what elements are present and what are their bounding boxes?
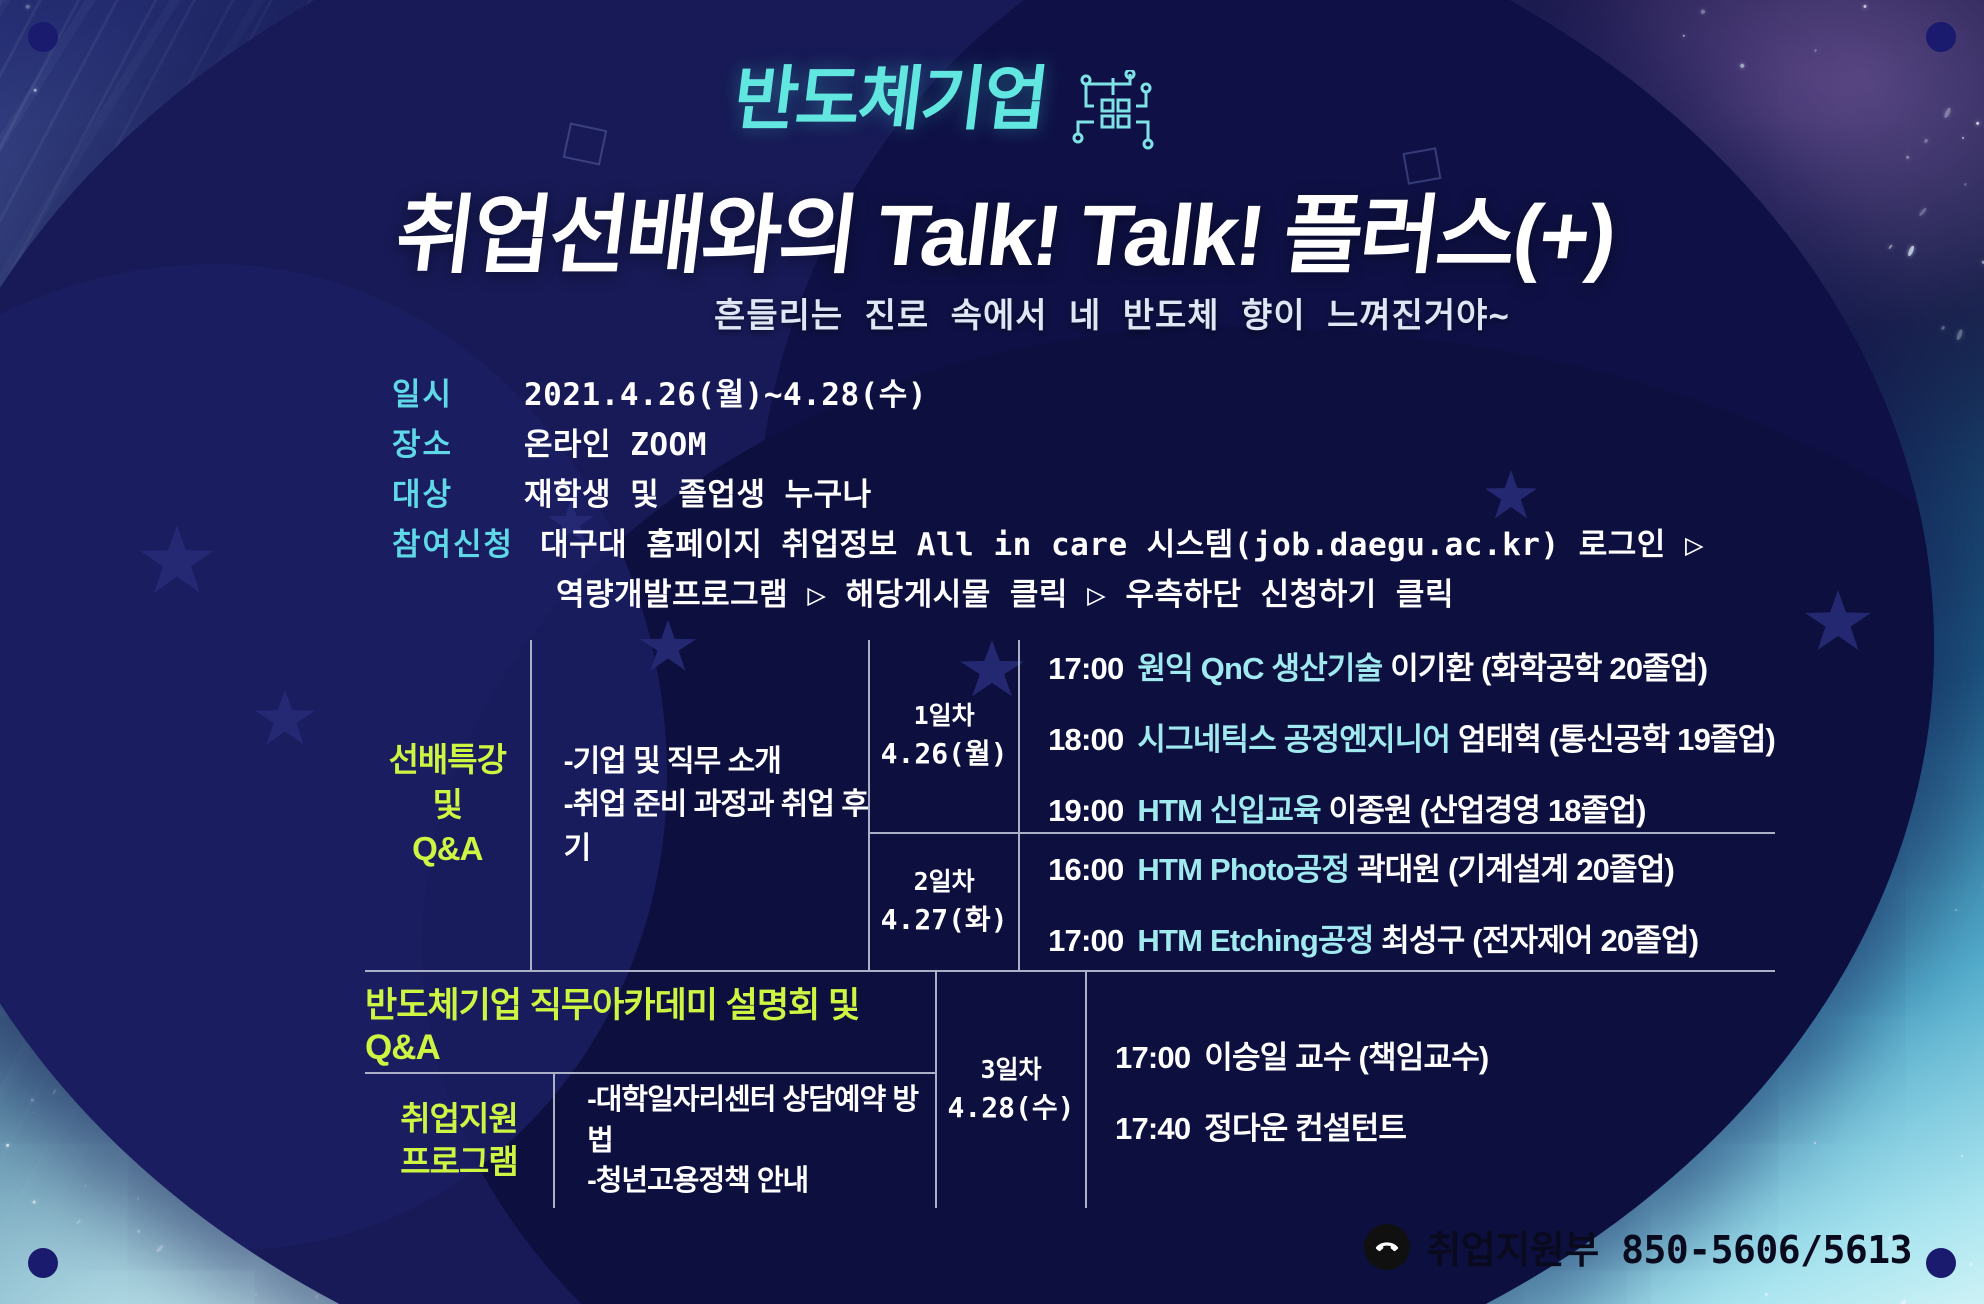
schedule-day-number: 1일차 bbox=[881, 698, 1008, 734]
schedule-category-line: 및 bbox=[389, 783, 506, 828]
session-who: 원익 QnC 생산기술 bbox=[1137, 651, 1382, 686]
session-meta: 이기환 (화학공학 20졸업) bbox=[1390, 651, 1707, 686]
session-time: 16:00 bbox=[1048, 852, 1123, 887]
session-meta: 곽대원 (기계설계 20졸업) bbox=[1357, 852, 1674, 887]
session-time: 18:00 bbox=[1048, 722, 1123, 757]
poster-root: 반도체기업 bbox=[0, 0, 1984, 1304]
schedule-block-lecture: 선배특강 및 Q&A -기업 및 직무 소개 -취업 준비 과정과 취업 후기 bbox=[365, 640, 1775, 970]
info-label-date: 일시 bbox=[392, 370, 524, 420]
schedule-day-1: 1일차 4.26(월) 17:00원익 QnC 생산기술 이기환 (화학공학 2… bbox=[868, 640, 1775, 832]
poster-kicker: 반도체기업 bbox=[730, 64, 1051, 134]
schedule-left-stack: 반도체기업 직무아카데미 설명회 및 Q&A 취업지원 프로그램 -대학일자리센… bbox=[365, 972, 935, 1208]
session-meta: 정다운 컨설턴트 bbox=[1204, 1111, 1406, 1146]
session-who: HTM Etching공정 bbox=[1137, 923, 1373, 958]
schedule-table: 선배특강 및 Q&A -기업 및 직무 소개 -취업 준비 과정과 취업 후기 bbox=[365, 640, 1775, 1208]
schedule-day-date: 4.26(월) bbox=[881, 734, 1008, 775]
schedule-day-number: 2일차 bbox=[881, 864, 1008, 900]
schedule-day-date: 4.28(수) bbox=[948, 1088, 1075, 1129]
schedule-desc-support: -대학일자리센터 상담예약 방법 -청년고용정책 안내 bbox=[553, 1074, 935, 1208]
info-block: 일시 2021.4.26(월)~4.28(수) 장소 온라인 ZOOM 대상 재… bbox=[392, 370, 1704, 620]
schedule-sessions-day-2: 16:00HTM Photo공정 곽대원 (기계설계 20졸업) 17:00HT… bbox=[1018, 834, 1775, 970]
schedule-desc-line: -취업 준비 과정과 취업 후기 bbox=[564, 783, 869, 870]
session-row: 16:00HTM Photo공정 곽대원 (기계설계 20졸업) bbox=[1048, 844, 1775, 889]
schedule-category-support: 취업지원 프로그램 bbox=[365, 1074, 553, 1208]
schedule-day-date: 4.27(화) bbox=[881, 900, 1008, 941]
poster-title: 취업선배와의 Talk! Talk! 플러스(+) bbox=[21, 193, 1984, 279]
session-row: 19:00HTM 신입교육 이종원 (산업경영 18졸업) bbox=[1048, 785, 1775, 830]
schedule-academy-banner: 반도체기업 직무아카데미 설명회 및 Q&A bbox=[365, 972, 935, 1072]
session-meta: 최성구 (전자제어 20졸업) bbox=[1381, 923, 1698, 958]
schedule-day-label-1: 1일차 4.26(월) bbox=[868, 640, 1018, 832]
footer-text: 취업지원부 850-5606/5613 bbox=[1426, 1219, 1912, 1274]
footer-dept: 취업지원부 bbox=[1426, 1230, 1598, 1272]
kicker-row: 반도체기업 bbox=[0, 64, 1984, 167]
info-label-apply: 참여신청 bbox=[392, 520, 540, 570]
poster-subtitle: 흔들리는 진로 속에서 네 반도체 향이 느껴진거야~ bbox=[0, 288, 1984, 337]
footer-phone: 850-5606/5613 bbox=[1621, 1228, 1912, 1272]
session-row: 17:00원익 QnC 생산기술 이기환 (화학공학 20졸업) bbox=[1048, 643, 1775, 688]
info-value-date: 2021.4.26(월)~4.28(수) bbox=[524, 370, 927, 420]
schedule-desc-line: -대학일자리센터 상담예약 방법 bbox=[587, 1080, 935, 1161]
schedule-desc-line: -기업 및 직무 소개 bbox=[564, 740, 781, 784]
poster-content: 반도체기업 bbox=[0, 0, 1984, 1304]
session-row: 17:00HTM Etching공정 최성구 (전자제어 20졸업) bbox=[1048, 915, 1775, 960]
session-who: HTM 신입교육 bbox=[1137, 793, 1320, 828]
session-who: 시그네틱스 공정엔지니어 bbox=[1137, 722, 1450, 757]
schedule-category-line: 선배특강 bbox=[389, 738, 506, 783]
schedule-block-academy: 반도체기업 직무아카데미 설명회 및 Q&A 취업지원 프로그램 -대학일자리센… bbox=[365, 972, 1775, 1208]
session-time: 19:00 bbox=[1048, 793, 1123, 828]
schedule-sessions-day-3: 17:00이승일 교수 (책임교수) 17:40정다운 컨설턴트 bbox=[1085, 972, 1775, 1208]
session-who: HTM Photo공정 bbox=[1137, 852, 1349, 887]
schedule-day-label-2: 2일차 4.27(화) bbox=[868, 834, 1018, 970]
session-row: 17:40정다운 컨설턴트 bbox=[1115, 1103, 1775, 1148]
schedule-category-line: Q&A bbox=[389, 827, 506, 872]
schedule-desc-line: -청년고용정책 안내 bbox=[587, 1161, 935, 1202]
session-meta: 이종원 (산업경영 18졸업) bbox=[1329, 793, 1646, 828]
info-label-audience: 대상 bbox=[392, 470, 524, 520]
schedule-category-lecture: 선배특강 및 Q&A bbox=[365, 640, 530, 970]
title-block: 반도체기업 bbox=[0, 64, 1984, 279]
info-row-apply: 참여신청 대구대 홈페이지 취업정보 All in care 시스템(job.d… bbox=[392, 520, 1704, 570]
session-time: 17:00 bbox=[1115, 1040, 1190, 1075]
schedule-sessions-day-1: 17:00원익 QnC 생산기술 이기환 (화학공학 20졸업) 18:00시그… bbox=[1018, 640, 1775, 832]
schedule-day-label-3: 3일차 4.28(수) bbox=[935, 972, 1085, 1208]
info-apply-second-line: 역량개발프로그램 ▷ 해당게시물 클릭 ▷ 우측하단 신청하기 클릭 bbox=[392, 570, 1704, 620]
session-meta: 엄태혁 (통신공학 19졸업) bbox=[1458, 722, 1775, 757]
session-row: 17:00이승일 교수 (책임교수) bbox=[1115, 1032, 1775, 1077]
session-time: 17:00 bbox=[1048, 923, 1123, 958]
session-row: 18:00시그네틱스 공정엔지니어 엄태혁 (통신공학 19졸업) bbox=[1048, 714, 1775, 759]
info-row-place: 장소 온라인 ZOOM bbox=[392, 420, 1704, 470]
session-time: 17:40 bbox=[1115, 1111, 1190, 1146]
info-row-audience: 대상 재학생 및 졸업생 누구나 bbox=[392, 470, 1704, 520]
circuit-chip-icon bbox=[1064, 70, 1160, 167]
schedule-support-row: 취업지원 프로그램 -대학일자리센터 상담예약 방법 -청년고용정책 안내 bbox=[365, 1074, 935, 1208]
schedule-category-line: 취업지원 bbox=[400, 1098, 517, 1141]
phone-icon bbox=[1364, 1224, 1410, 1270]
session-meta: 이승일 교수 (책임교수) bbox=[1204, 1040, 1488, 1075]
schedule-day-2: 2일차 4.27(화) 16:00HTM Photo공정 곽대원 (기계설계 2… bbox=[868, 834, 1775, 970]
info-value-apply: 대구대 홈페이지 취업정보 All in care 시스템(job.daegu.… bbox=[540, 520, 1704, 570]
info-value-audience: 재학생 및 졸업생 누구나 bbox=[524, 470, 872, 520]
schedule-day-number: 3일차 bbox=[948, 1052, 1075, 1088]
footer-contact: 취업지원부 850-5606/5613 bbox=[1364, 1219, 1912, 1274]
schedule-days-column: 1일차 4.26(월) 17:00원익 QnC 생산기술 이기환 (화학공학 2… bbox=[868, 640, 1775, 970]
schedule-desc-lecture: -기업 및 직무 소개 -취업 준비 과정과 취업 후기 bbox=[530, 640, 869, 970]
info-value-place: 온라인 ZOOM bbox=[524, 420, 707, 470]
info-label-place: 장소 bbox=[392, 420, 524, 470]
info-row-date: 일시 2021.4.26(월)~4.28(수) bbox=[392, 370, 1704, 420]
schedule-category-line: 프로그램 bbox=[400, 1141, 517, 1184]
session-time: 17:00 bbox=[1048, 651, 1123, 686]
